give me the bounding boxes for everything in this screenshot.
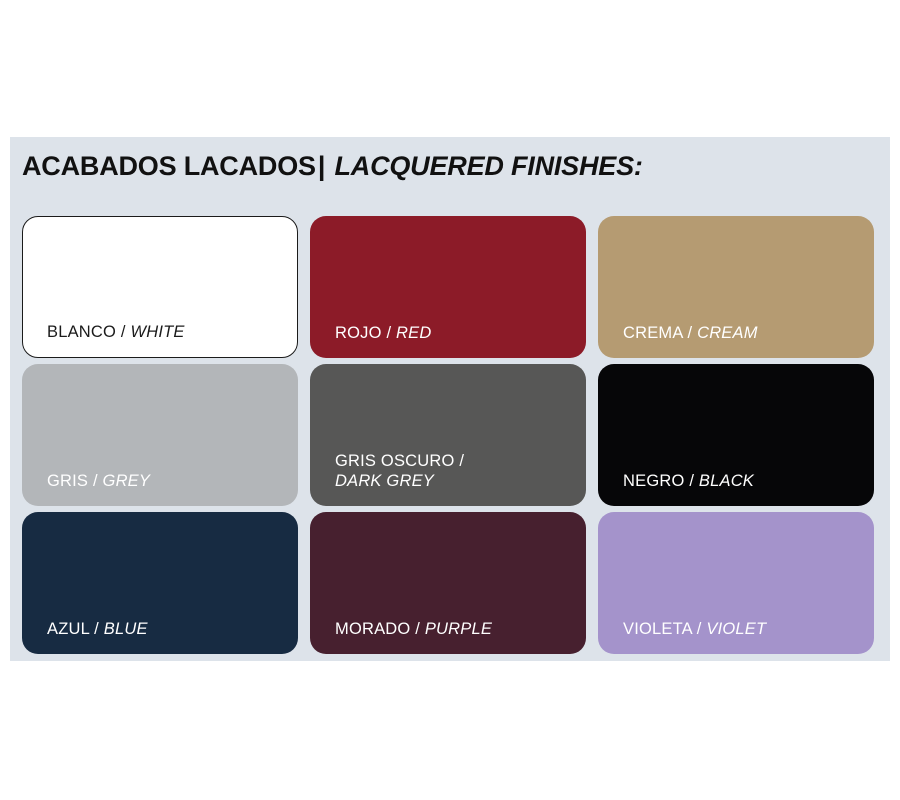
swatch-name-separator: /	[386, 324, 391, 342]
swatch-label: MORADO / PURPLE	[335, 619, 572, 640]
swatch-name-separator: /	[697, 620, 702, 638]
swatch-name-english: DARK GREY	[335, 472, 434, 490]
swatch-name-spanish: GRIS OSCURO	[335, 452, 455, 470]
swatch-name-english: BLACK	[699, 472, 754, 490]
swatch-name-english: RED	[396, 324, 431, 342]
swatch-name-separator: /	[121, 323, 126, 341]
swatch-name-separator: /	[415, 620, 420, 638]
swatch-name-english: CREAM	[697, 324, 758, 342]
swatch-name-english: WHITE	[130, 323, 184, 341]
swatch-label: VIOLETA / VIOLET	[623, 619, 860, 640]
swatch-name-separator: /	[94, 620, 99, 638]
color-swatch-red[interactable]: ROJO / RED	[310, 216, 586, 358]
page-title-english: LACQUERED FINISHES:	[334, 151, 642, 181]
swatch-name-spanish: VIOLETA	[623, 620, 692, 638]
swatch-name-english: VIOLET	[706, 620, 766, 638]
swatch-name-english: GREY	[103, 472, 151, 490]
swatch-label: GRIS / GREY	[47, 471, 284, 492]
color-swatch-purple[interactable]: MORADO / PURPLE	[310, 512, 586, 654]
color-swatch-white[interactable]: BLANCO / WHITE	[22, 216, 298, 358]
swatch-name-separator: /	[689, 472, 694, 490]
lacquered-finishes-panel: ACABADOS LACADOS| LACQUERED FINISHES: BL…	[10, 137, 890, 661]
color-swatch-grid: BLANCO / WHITEROJO / REDCREMA / CREAMGRI…	[22, 216, 878, 654]
swatch-name-english: BLUE	[104, 620, 148, 638]
swatch-name-spanish: CREMA	[623, 324, 683, 342]
swatch-name-spanish: GRIS	[47, 472, 88, 490]
color-swatch-black[interactable]: NEGRO / BLACK	[598, 364, 874, 506]
swatch-label: NEGRO / BLACK	[623, 471, 860, 492]
swatch-name-separator: /	[93, 472, 98, 490]
swatch-name-english: PURPLE	[425, 620, 492, 638]
swatch-name-spanish: NEGRO	[623, 472, 685, 490]
swatch-label: ROJO / RED	[335, 323, 572, 344]
page-title-spanish: ACABADOS LACADOS	[22, 151, 316, 181]
swatch-name-spanish: AZUL	[47, 620, 89, 638]
swatch-label: CREMA / CREAM	[623, 323, 860, 344]
swatch-label: BLANCO / WHITE	[47, 322, 283, 343]
swatch-label: AZUL / BLUE	[47, 619, 284, 640]
swatch-name-spanish: BLANCO	[47, 323, 116, 341]
color-swatch-blue[interactable]: AZUL / BLUE	[22, 512, 298, 654]
page-title: ACABADOS LACADOS| LACQUERED FINISHES:	[22, 151, 643, 182]
color-swatch-violet[interactable]: VIOLETA / VIOLET	[598, 512, 874, 654]
swatch-name-separator: /	[459, 452, 464, 470]
swatch-name-spanish: MORADO	[335, 620, 410, 638]
color-swatch-cream[interactable]: CREMA / CREAM	[598, 216, 874, 358]
page-title-separator: |	[316, 151, 327, 181]
color-swatch-dark-grey[interactable]: GRIS OSCURO /DARK GREY	[310, 364, 586, 506]
swatch-name-spanish: ROJO	[335, 324, 382, 342]
color-swatch-grey[interactable]: GRIS / GREY	[22, 364, 298, 506]
swatch-name-separator: /	[687, 324, 692, 342]
swatch-label: GRIS OSCURO /DARK GREY	[335, 451, 572, 492]
